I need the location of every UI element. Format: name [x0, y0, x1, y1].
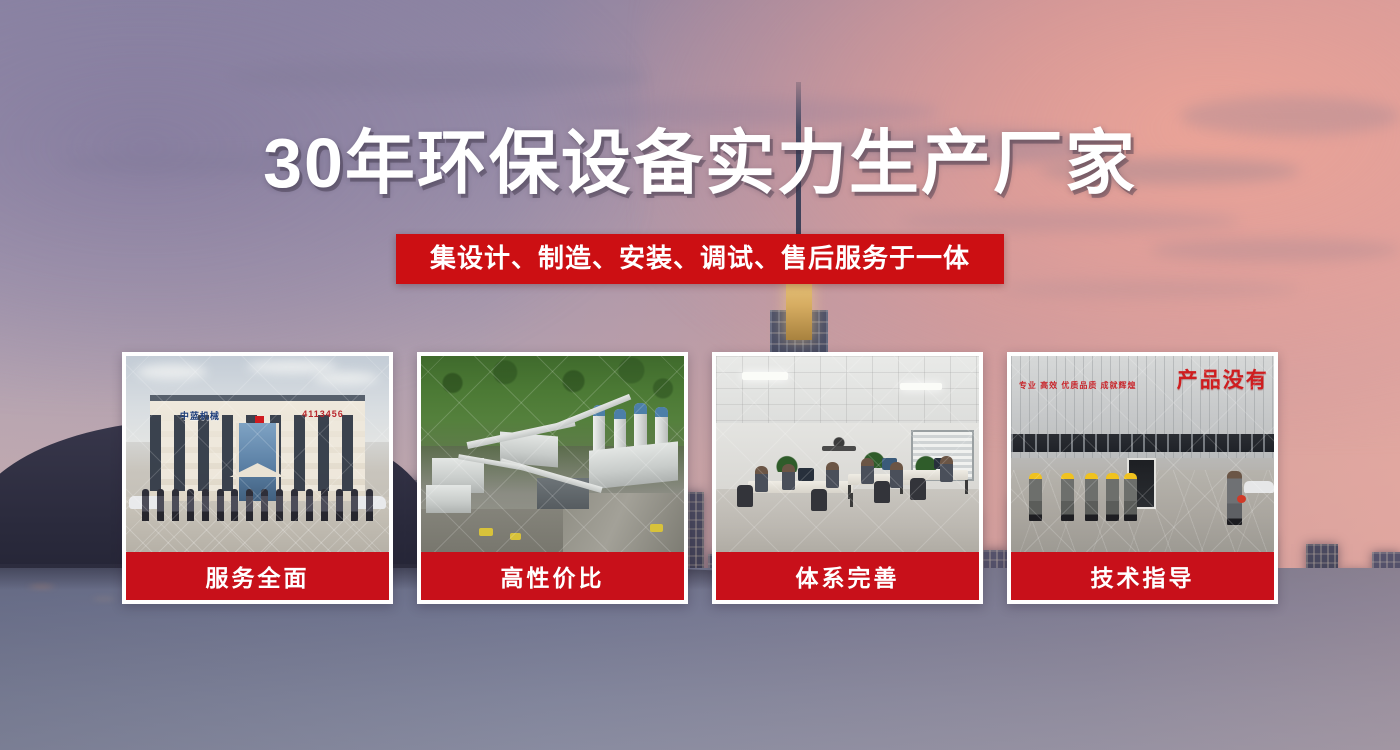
building-phone-text: 4113456 — [302, 409, 344, 419]
card-label: 技术指导 — [1011, 552, 1274, 600]
factory-slogan-text: 专业 高效 优质品质 成就辉煌 — [1019, 380, 1137, 392]
feature-card-list: 中蓝机械 4113456 服务全面 — [122, 352, 1278, 604]
cloud — [560, 98, 940, 126]
feature-card[interactable]: 高性价比 — [417, 352, 688, 604]
subtitle-banner-wrapper: 集设计、制造、安装、调试、售后服务于一体 — [0, 234, 1400, 284]
subtitle-banner: 集设计、制造、安装、调试、售后服务于一体 — [396, 234, 1004, 284]
feature-card[interactable]: 专业 高效 优质品质 成就辉煌 产品没有 技术指导 — [1007, 352, 1278, 604]
page-title: 30年环保设备实力生产厂家 — [0, 128, 1400, 198]
promotional-banner: 30年环保设备实力生产厂家 集设计、制造、安装、调试、售后服务于一体 — [0, 0, 1400, 750]
card-photo-workers-briefing: 专业 高效 优质品质 成就辉煌 产品没有 — [1011, 356, 1274, 552]
card-label: 体系完善 — [716, 552, 979, 600]
building-sign-text: 中蓝机械 — [180, 409, 220, 422]
card-photo-office-interior — [716, 356, 979, 552]
factory-sign-text: 产品没有 — [1177, 364, 1269, 394]
card-photo-industrial-plant — [421, 356, 684, 552]
card-label: 服务全面 — [126, 552, 389, 600]
card-photo-headquarters-building: 中蓝机械 4113456 — [126, 356, 389, 552]
feature-card[interactable]: 体系完善 — [712, 352, 983, 604]
card-label: 高性价比 — [421, 552, 684, 600]
cloud — [230, 60, 650, 94]
feature-card[interactable]: 中蓝机械 4113456 服务全面 — [122, 352, 393, 604]
